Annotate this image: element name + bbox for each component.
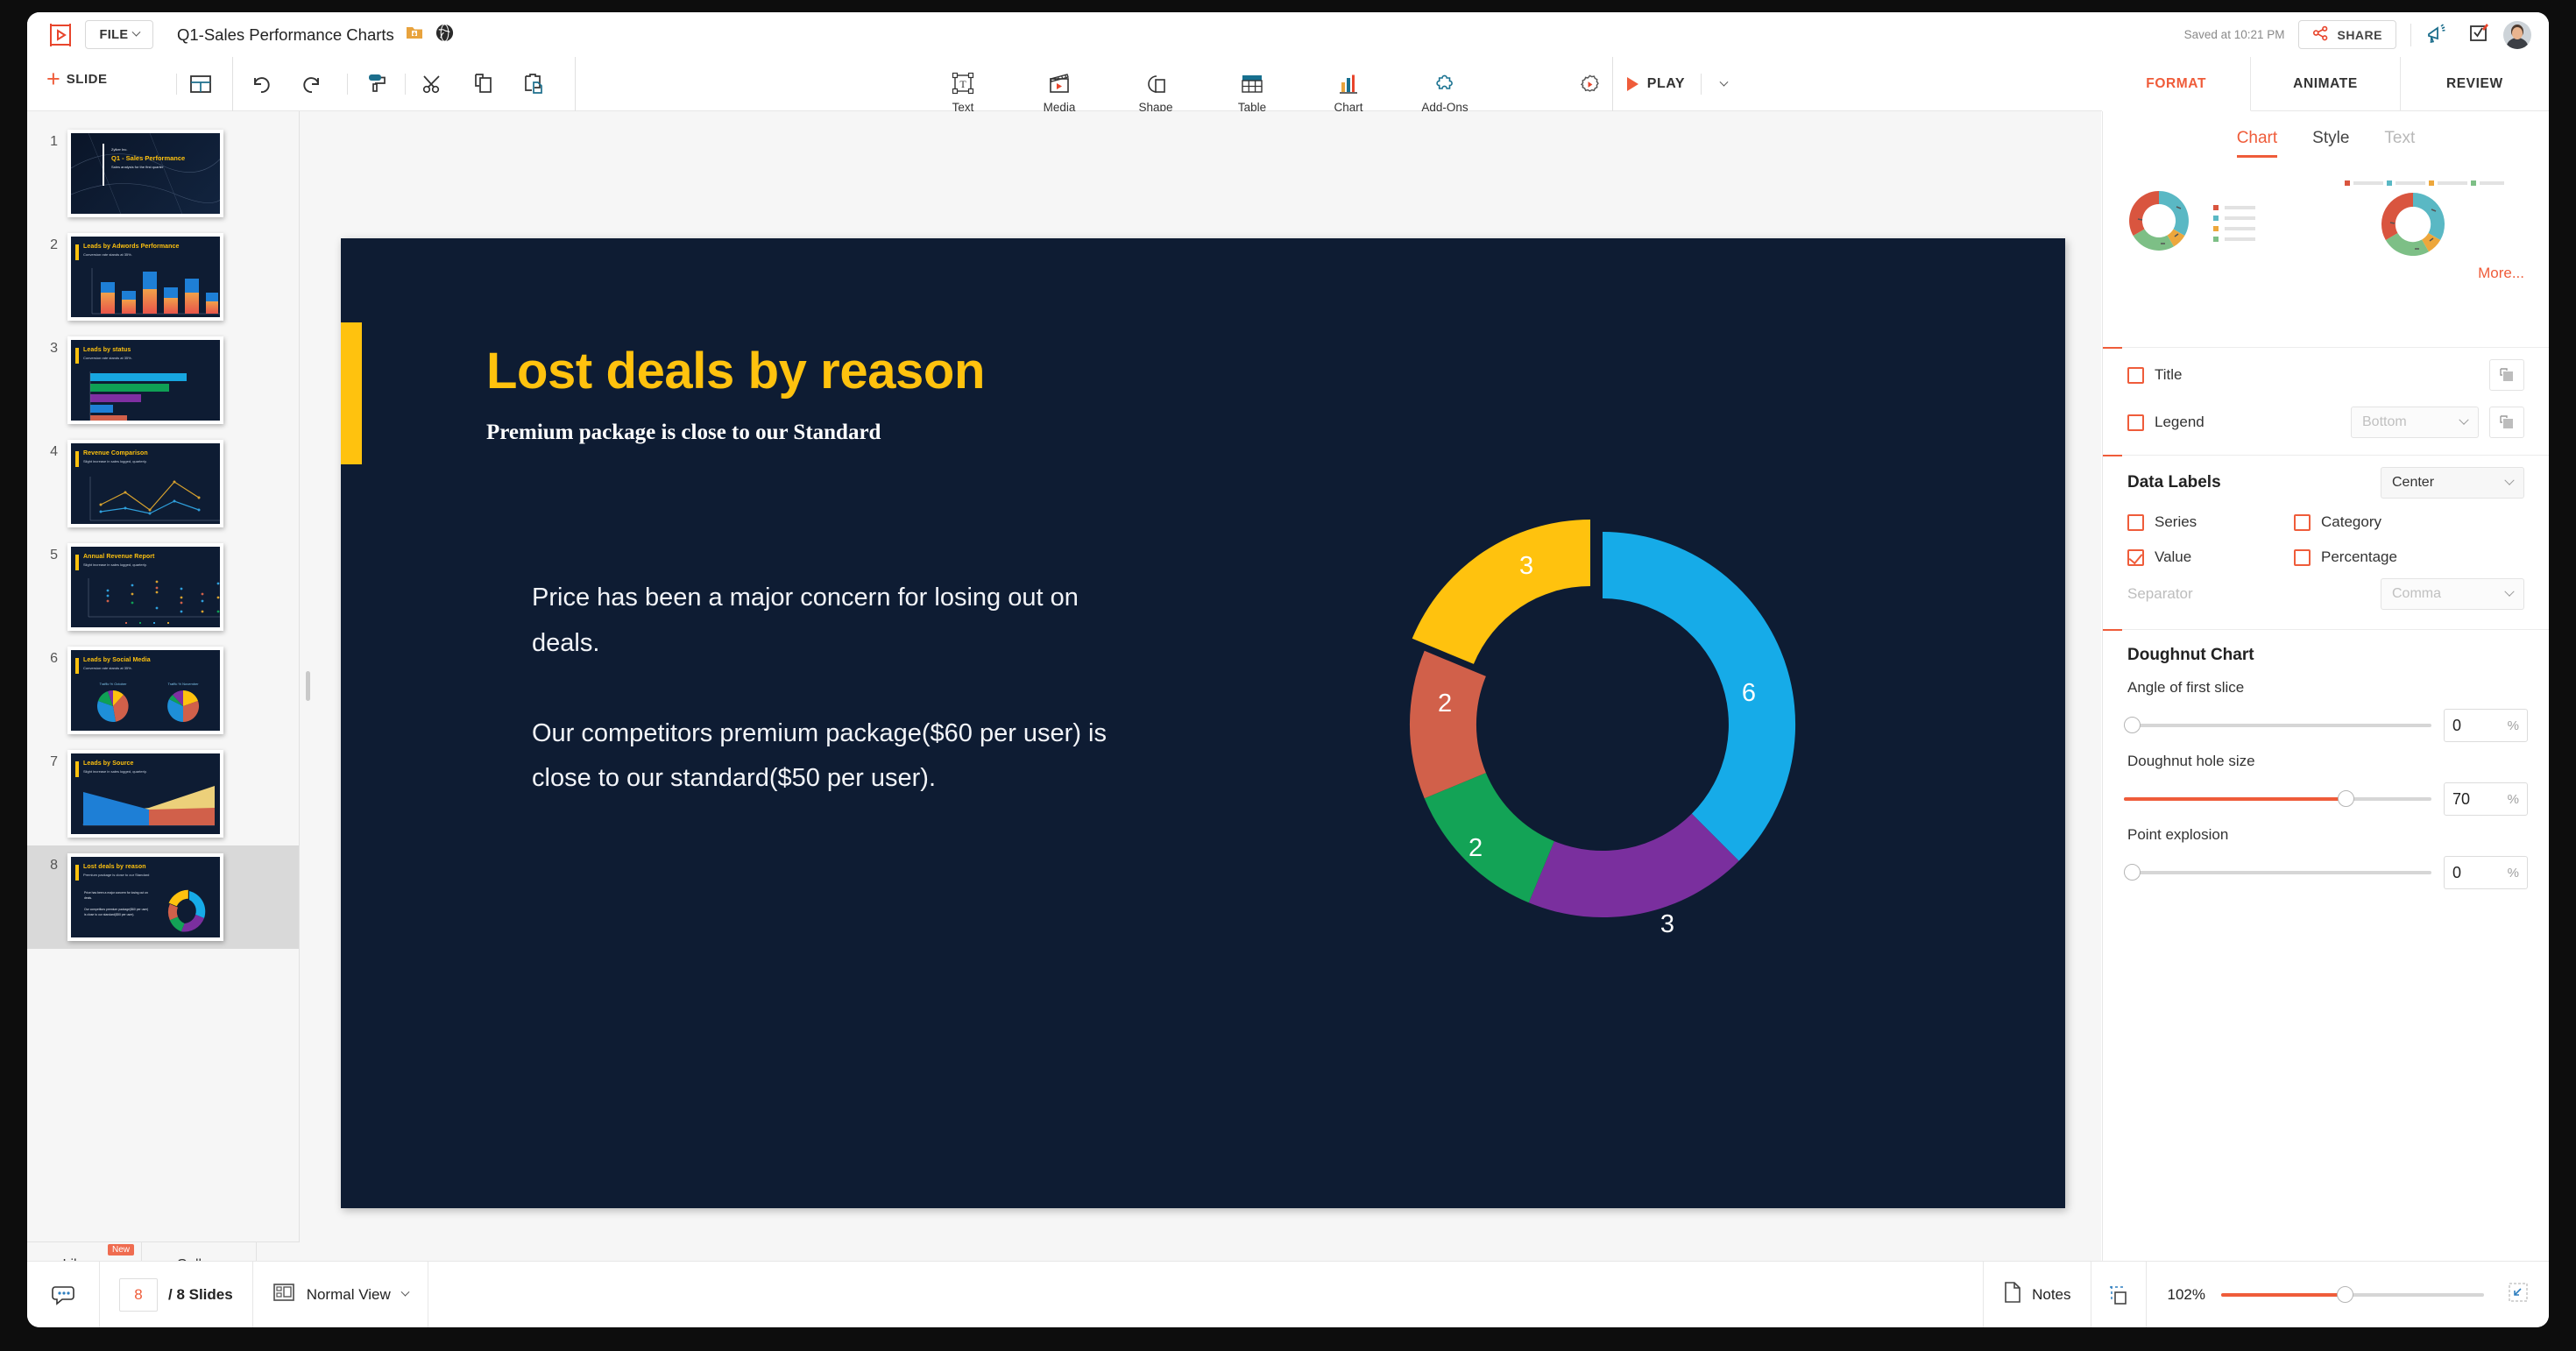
toolbar-divider — [176, 74, 177, 95]
play-divider — [1612, 57, 1613, 111]
zoom-percent-label: 102% — [2168, 1286, 2205, 1304]
clapperboard-media-icon — [1046, 67, 1072, 97]
doughnut-chart-section: Doughnut Chart Angle of first slice 0 % … — [2103, 629, 2549, 909]
zoho-show-window: FILE Q1-Sales Performance Charts — [27, 12, 2549, 1327]
value-checkbox-label: Value — [2155, 548, 2191, 566]
category-checkbox[interactable] — [2294, 514, 2311, 531]
percent-unit: % — [2508, 718, 2519, 733]
view-mode-label: Normal View — [307, 1286, 391, 1304]
angle-first-slice-label: Angle of first slice — [2103, 668, 2549, 697]
legend-checkbox[interactable] — [2127, 414, 2144, 431]
copy-icon[interactable] — [472, 72, 495, 101]
thumbnail-number: 6 — [27, 647, 67, 667]
format-subtabs: Chart Style Text — [2103, 111, 2549, 158]
hole-size-input[interactable]: 70 % — [2444, 782, 2528, 816]
insert-toolbar-group: T Text Media — [915, 60, 1493, 114]
paint-roller-icon[interactable] — [365, 72, 389, 101]
slides-total-label: / 8 Slides — [168, 1286, 233, 1304]
add-slide-label: SLIDE — [67, 72, 108, 87]
title-checkbox[interactable] — [2127, 367, 2144, 384]
thumbnail-slide-7[interactable]: 7 Leads by Source Slight increase in sal… — [27, 742, 299, 845]
insert-shape-button[interactable]: Shape — [1108, 60, 1204, 114]
saved-status: Saved at 10:21 PM — [2184, 28, 2285, 41]
right-panel-tabs: FORMAT ANIMATE REVIEW — [2102, 57, 2549, 111]
svg-text:Traffic % October: Traffic % October — [100, 682, 128, 686]
puzzle-piece-icon — [1432, 67, 1458, 97]
chart-preview-doughnut-legend-right[interactable] — [2122, 180, 2262, 265]
slider-knob[interactable] — [2124, 864, 2141, 881]
series-checkbox-row: Series — [2127, 513, 2294, 531]
chevron-down-icon — [2459, 415, 2468, 425]
insert-media-button[interactable]: Media — [1011, 60, 1108, 114]
thumbnail-number: 2 — [27, 233, 67, 253]
comments-button[interactable] — [27, 1262, 100, 1328]
doughnut-section-heading: Doughnut Chart — [2103, 630, 2549, 668]
hole-size-row: 70 % — [2103, 782, 2549, 816]
thumb7-title: Leads by Source — [83, 760, 134, 767]
point-explosion-slider[interactable] — [2124, 871, 2431, 874]
new-badge: New — [108, 1244, 134, 1256]
slide-layout-icon[interactable] — [189, 73, 212, 100]
thumbnail-number: 3 — [27, 336, 67, 357]
subtab-chart[interactable]: Chart — [2237, 129, 2277, 158]
notes-label: Notes — [2032, 1286, 2070, 1304]
slice-label-green: 2 — [1468, 834, 1483, 862]
zoom-control: 102% — [2147, 1262, 2549, 1328]
undo-icon[interactable] — [250, 73, 272, 100]
view-mode-selector[interactable]: Normal View — [253, 1262, 428, 1328]
text-box-icon: T — [950, 67, 976, 97]
chevron-down-icon — [131, 28, 140, 37]
thumbnail-slide-8[interactable]: 8 Lost deals by reason Premium package i… — [27, 845, 299, 949]
play-chevron-divider — [1701, 74, 1702, 95]
top-header-bar: FILE Q1-Sales Performance Charts — [27, 12, 2549, 57]
thumbnail-preview: Leads by Source Slight increase in sales… — [67, 750, 223, 838]
body-paragraph-1: Price has been a major concern for losin… — [532, 576, 1110, 666]
folder-download-icon[interactable] — [405, 23, 424, 46]
point-explosion-input[interactable]: 0 % — [2444, 856, 2528, 889]
thumbnail-slide-2[interactable]: 2 Leads by Adwords Performance Conversio… — [27, 225, 299, 329]
fit-to-screen-icon[interactable] — [2507, 1281, 2530, 1308]
thumb5-sub: Slight increase in sales logged, quarter… — [83, 562, 147, 567]
legend-position-value: Bottom — [2362, 414, 2407, 430]
subtab-style[interactable]: Style — [2312, 129, 2349, 158]
guides-button[interactable] — [2091, 1262, 2147, 1328]
insert-addons-button[interactable]: Add-Ons — [1397, 60, 1493, 114]
notes-page-icon — [2003, 1281, 2022, 1308]
thumbnail-slide-3[interactable]: 3 Leads by status Conversion rate stands… — [27, 329, 299, 432]
file-menu-button[interactable]: FILE — [85, 20, 153, 49]
thumbnail-slide-5[interactable]: 5 Annual Revenue Report Slight increase … — [27, 535, 299, 639]
chart-preview-doughnut-legend-top[interactable] — [2332, 175, 2508, 267]
add-slide-button[interactable]: + SLIDE — [46, 69, 107, 88]
paste-icon[interactable] — [522, 72, 545, 101]
file-menu-label: FILE — [99, 28, 128, 42]
slider-knob[interactable] — [2124, 717, 2141, 733]
thumb8-sub: Premium package is close to our Standard — [83, 873, 149, 877]
thumbnail-preview: Annual Revenue Report Slight increase in… — [67, 543, 223, 631]
hole-size-label: Doughnut hole size — [2103, 742, 2549, 770]
header-right-group: Saved at 10:21 PM SHARE — [2184, 12, 2549, 57]
thumb1-eyebrow: Zylker Inc. — [111, 147, 127, 152]
slice-yellow[interactable] — [1412, 520, 1590, 664]
legend-position-select[interactable]: Bottom — [2351, 407, 2479, 438]
plus-icon: + — [46, 69, 60, 88]
slice-label-yellow: 3 — [1519, 552, 1533, 580]
percent-unit: % — [2508, 866, 2519, 881]
redo-icon[interactable] — [301, 73, 323, 100]
title-icon-group — [405, 23, 455, 47]
thumb7-sub: Slight increase in sales logged, quarter… — [83, 769, 147, 774]
thumbnail-preview: Lost deals by reason Premium package is … — [67, 853, 223, 941]
data-label-position-select[interactable]: Center — [2381, 467, 2524, 499]
zoom-slider[interactable] — [2221, 1293, 2484, 1297]
percentage-checkbox-row: Percentage — [2294, 548, 2397, 566]
hole-size-slider[interactable] — [2124, 797, 2431, 801]
zoho-show-logo-icon[interactable] — [46, 20, 75, 50]
share-button[interactable]: SHARE — [2298, 20, 2396, 49]
gear-icon[interactable] — [1568, 73, 1612, 96]
current-slide-input[interactable]: 8 — [119, 1278, 158, 1312]
data-labels-heading: Data Labels — [2127, 473, 2221, 492]
thumb1-title: Q1 - Sales Performance — [111, 154, 185, 162]
point-explosion-value: 0 — [2452, 864, 2461, 882]
angle-first-slice-row: 0 % — [2103, 709, 2549, 742]
thumbnail-number: 1 — [27, 130, 67, 150]
thumb5-title: Annual Revenue Report — [83, 554, 154, 560]
insert-table-button[interactable]: Table — [1204, 60, 1300, 114]
thumb8-title: Lost deals by reason — [83, 864, 146, 870]
more-chart-types-link[interactable]: More... — [2478, 265, 2524, 282]
header-divider — [2410, 24, 2411, 46]
slice-blue[interactable] — [1603, 532, 1795, 861]
value-checkbox-row: Value — [2127, 548, 2294, 566]
body-paragraph-2: Our competitors premium package($60 per … — [532, 711, 1110, 802]
thumbnail-preview: Leads by Adwords Performance Conversion … — [67, 233, 223, 321]
share-nodes-icon — [2312, 25, 2329, 45]
angle-first-slice-value: 0 — [2452, 717, 2461, 735]
title-accent-bar — [341, 322, 362, 464]
thumbnail-slide-4[interactable]: 4 Revenue Comparison Slight increase in … — [27, 432, 299, 535]
title-checkbox-label: Title — [2155, 366, 2183, 384]
slide-canvas-area: Lost deals by reason Premium package is … — [300, 111, 2101, 1261]
format-panel: Chart Style Text — [2102, 111, 2549, 1261]
share-label: SHARE — [2337, 28, 2382, 42]
slide-body-text[interactable]: Price has been a major concern for losin… — [532, 576, 1110, 802]
thumbnail-number: 7 — [27, 750, 67, 770]
thumb4-sub: Slight increase in sales logged, quarter… — [83, 459, 147, 463]
chevron-down-icon — [1720, 78, 1729, 87]
svg-text:T: T — [959, 78, 966, 90]
tab-review[interactable]: REVIEW — [2401, 57, 2549, 111]
thumbnail-preview: Leads by status Conversion rate stands a… — [67, 336, 223, 424]
play-options-button[interactable] — [1705, 76, 1743, 92]
shape-icon — [1143, 67, 1169, 97]
percent-unit: % — [2508, 792, 2519, 807]
angle-first-slice-slider[interactable] — [2124, 724, 2431, 727]
document-title[interactable]: Q1-Sales Performance Charts — [177, 25, 394, 45]
doughnut-chart[interactable]: 6 3 2 2 3 — [1226, 247, 1979, 1202]
bottom-status-bar: 8 / 8 Slides Normal View — [27, 1261, 2549, 1327]
chart-type-previews: More... — [2103, 170, 2549, 293]
play-group: PLAY — [1568, 57, 1743, 111]
percentage-checkbox-label: Percentage — [2321, 548, 2397, 566]
chevron-down-icon — [2504, 587, 2514, 597]
chevron-down-icon — [400, 1288, 409, 1297]
category-checkbox-row: Category — [2294, 513, 2381, 531]
thumbnail-slide-6[interactable]: 6 Leads by Social Media Conversion rate … — [27, 639, 299, 742]
data-label-position-value: Center — [2392, 475, 2434, 491]
chevron-down-icon — [2504, 476, 2514, 485]
value-checkbox[interactable] — [2127, 549, 2144, 566]
svg-text:Traffic % November: Traffic % November — [167, 682, 199, 686]
megaphone-icon[interactable] — [2425, 21, 2448, 48]
thumbnail-number: 8 — [27, 853, 67, 874]
normal-view-icon — [272, 1282, 295, 1307]
thumbnail-slide-1[interactable]: 1 Zylker Inc. Q1 - Sales Performance Sal… — [27, 122, 299, 225]
thumbnail-preview: Leads by Social Media Conversion rate st… — [67, 647, 223, 734]
subtab-text[interactable]: Text — [2384, 129, 2415, 158]
category-checkbox-label: Category — [2321, 513, 2381, 531]
slide-thumbnail-panel[interactable]: 1 Zylker Inc. Q1 - Sales Performance Sal… — [27, 111, 300, 1261]
zoom-slider-knob[interactable] — [2337, 1286, 2353, 1303]
thumbnail-preview: Revenue Comparison Slight increase in sa… — [67, 440, 223, 527]
globe-icon[interactable] — [435, 23, 455, 47]
slice-green[interactable] — [1425, 773, 1554, 902]
thumb8-body-1: Price has been a major concern for losin… — [84, 890, 149, 901]
separator-select[interactable]: Comma — [2381, 578, 2524, 610]
thumb2-sub: Conversion rate stands at 35%. — [83, 252, 132, 257]
title-copy-style-button[interactable] — [2489, 359, 2524, 391]
toolbar-divider-5 — [575, 57, 576, 111]
data-labels-section: Data Labels Center Series Category — [2103, 455, 2549, 629]
separator-label: Separator — [2127, 585, 2193, 603]
series-checkbox-label: Series — [2155, 513, 2197, 531]
panel-resize-handle[interactable] — [306, 671, 310, 701]
thumb1-sub: Sales analysis for the first quarter — [111, 165, 163, 169]
table-icon — [1239, 67, 1265, 97]
angle-first-slice-input[interactable]: 0 % — [2444, 709, 2528, 742]
insert-text-button[interactable]: T Text — [915, 60, 1011, 114]
percentage-checkbox[interactable] — [2294, 549, 2311, 566]
slider-knob[interactable] — [2338, 790, 2354, 807]
thumbnail-number: 4 — [27, 440, 67, 460]
thumb4-title: Revenue Comparison — [83, 450, 148, 456]
title-legend-section: Title Legend Bottom — [2103, 347, 2549, 455]
thumb8-body-2: Our competitors premium package($60 per … — [84, 907, 149, 917]
insert-chart-button[interactable]: Chart — [1300, 60, 1397, 114]
thumbnail-number: 5 — [27, 543, 67, 563]
slice-label-blue: 6 — [1742, 679, 1756, 707]
thumbnail-preview: Zylker Inc. Q1 - Sales Performance Sales… — [67, 130, 223, 217]
play-button[interactable]: PLAY — [1613, 76, 1701, 92]
tab-animate[interactable]: ANIMATE — [2251, 57, 2400, 111]
point-explosion-label: Point explosion — [2103, 816, 2549, 844]
legend-checkbox-label: Legend — [2155, 414, 2204, 431]
slice-label-purple: 3 — [1660, 910, 1674, 938]
slide-subtitle[interactable]: Premium package is close to our Standard — [486, 421, 881, 445]
point-explosion-row: 0 % — [2103, 856, 2549, 889]
toolbar-divider-4 — [405, 74, 406, 95]
play-label: PLAY — [1647, 76, 1685, 92]
thumb2-title: Leads by Adwords Performance — [83, 244, 180, 250]
slide-title[interactable]: Lost deals by reason — [486, 342, 985, 400]
slice-label-red: 2 — [1438, 690, 1452, 718]
play-triangle-icon — [1627, 77, 1638, 91]
thumb3-sub: Conversion rate stands at 35%. — [83, 356, 132, 360]
bottom-right-group: Notes 102% — [1983, 1262, 2549, 1328]
separator-value: Comma — [2392, 586, 2441, 602]
thumb6-sub: Conversion rate stands at 35%. — [83, 666, 132, 670]
scissors-icon[interactable] — [421, 73, 445, 100]
bar-chart-icon — [1335, 67, 1362, 97]
tab-format[interactable]: FORMAT — [2102, 57, 2251, 111]
toolbar-divider-3 — [347, 74, 348, 95]
hole-size-value: 70 — [2452, 790, 2470, 809]
toolbar-divider-2 — [232, 57, 233, 111]
slice-red[interactable] — [1410, 651, 1486, 798]
feedback-pencil-icon[interactable] — [2467, 21, 2491, 49]
legend-copy-style-button[interactable] — [2489, 407, 2524, 438]
thumbnail-list: 1 Zylker Inc. Q1 - Sales Performance Sal… — [27, 111, 299, 1261]
thumb3-title: Leads by status — [83, 347, 131, 353]
thumb6-title: Leads by Social Media — [83, 657, 151, 663]
slide-counter: 8 / 8 Slides — [100, 1262, 253, 1328]
series-checkbox[interactable] — [2127, 514, 2144, 531]
notes-button[interactable]: Notes — [1983, 1262, 2091, 1328]
user-avatar[interactable] — [2503, 21, 2531, 49]
slide-canvas[interactable]: Lost deals by reason Premium package is … — [341, 238, 2065, 1208]
